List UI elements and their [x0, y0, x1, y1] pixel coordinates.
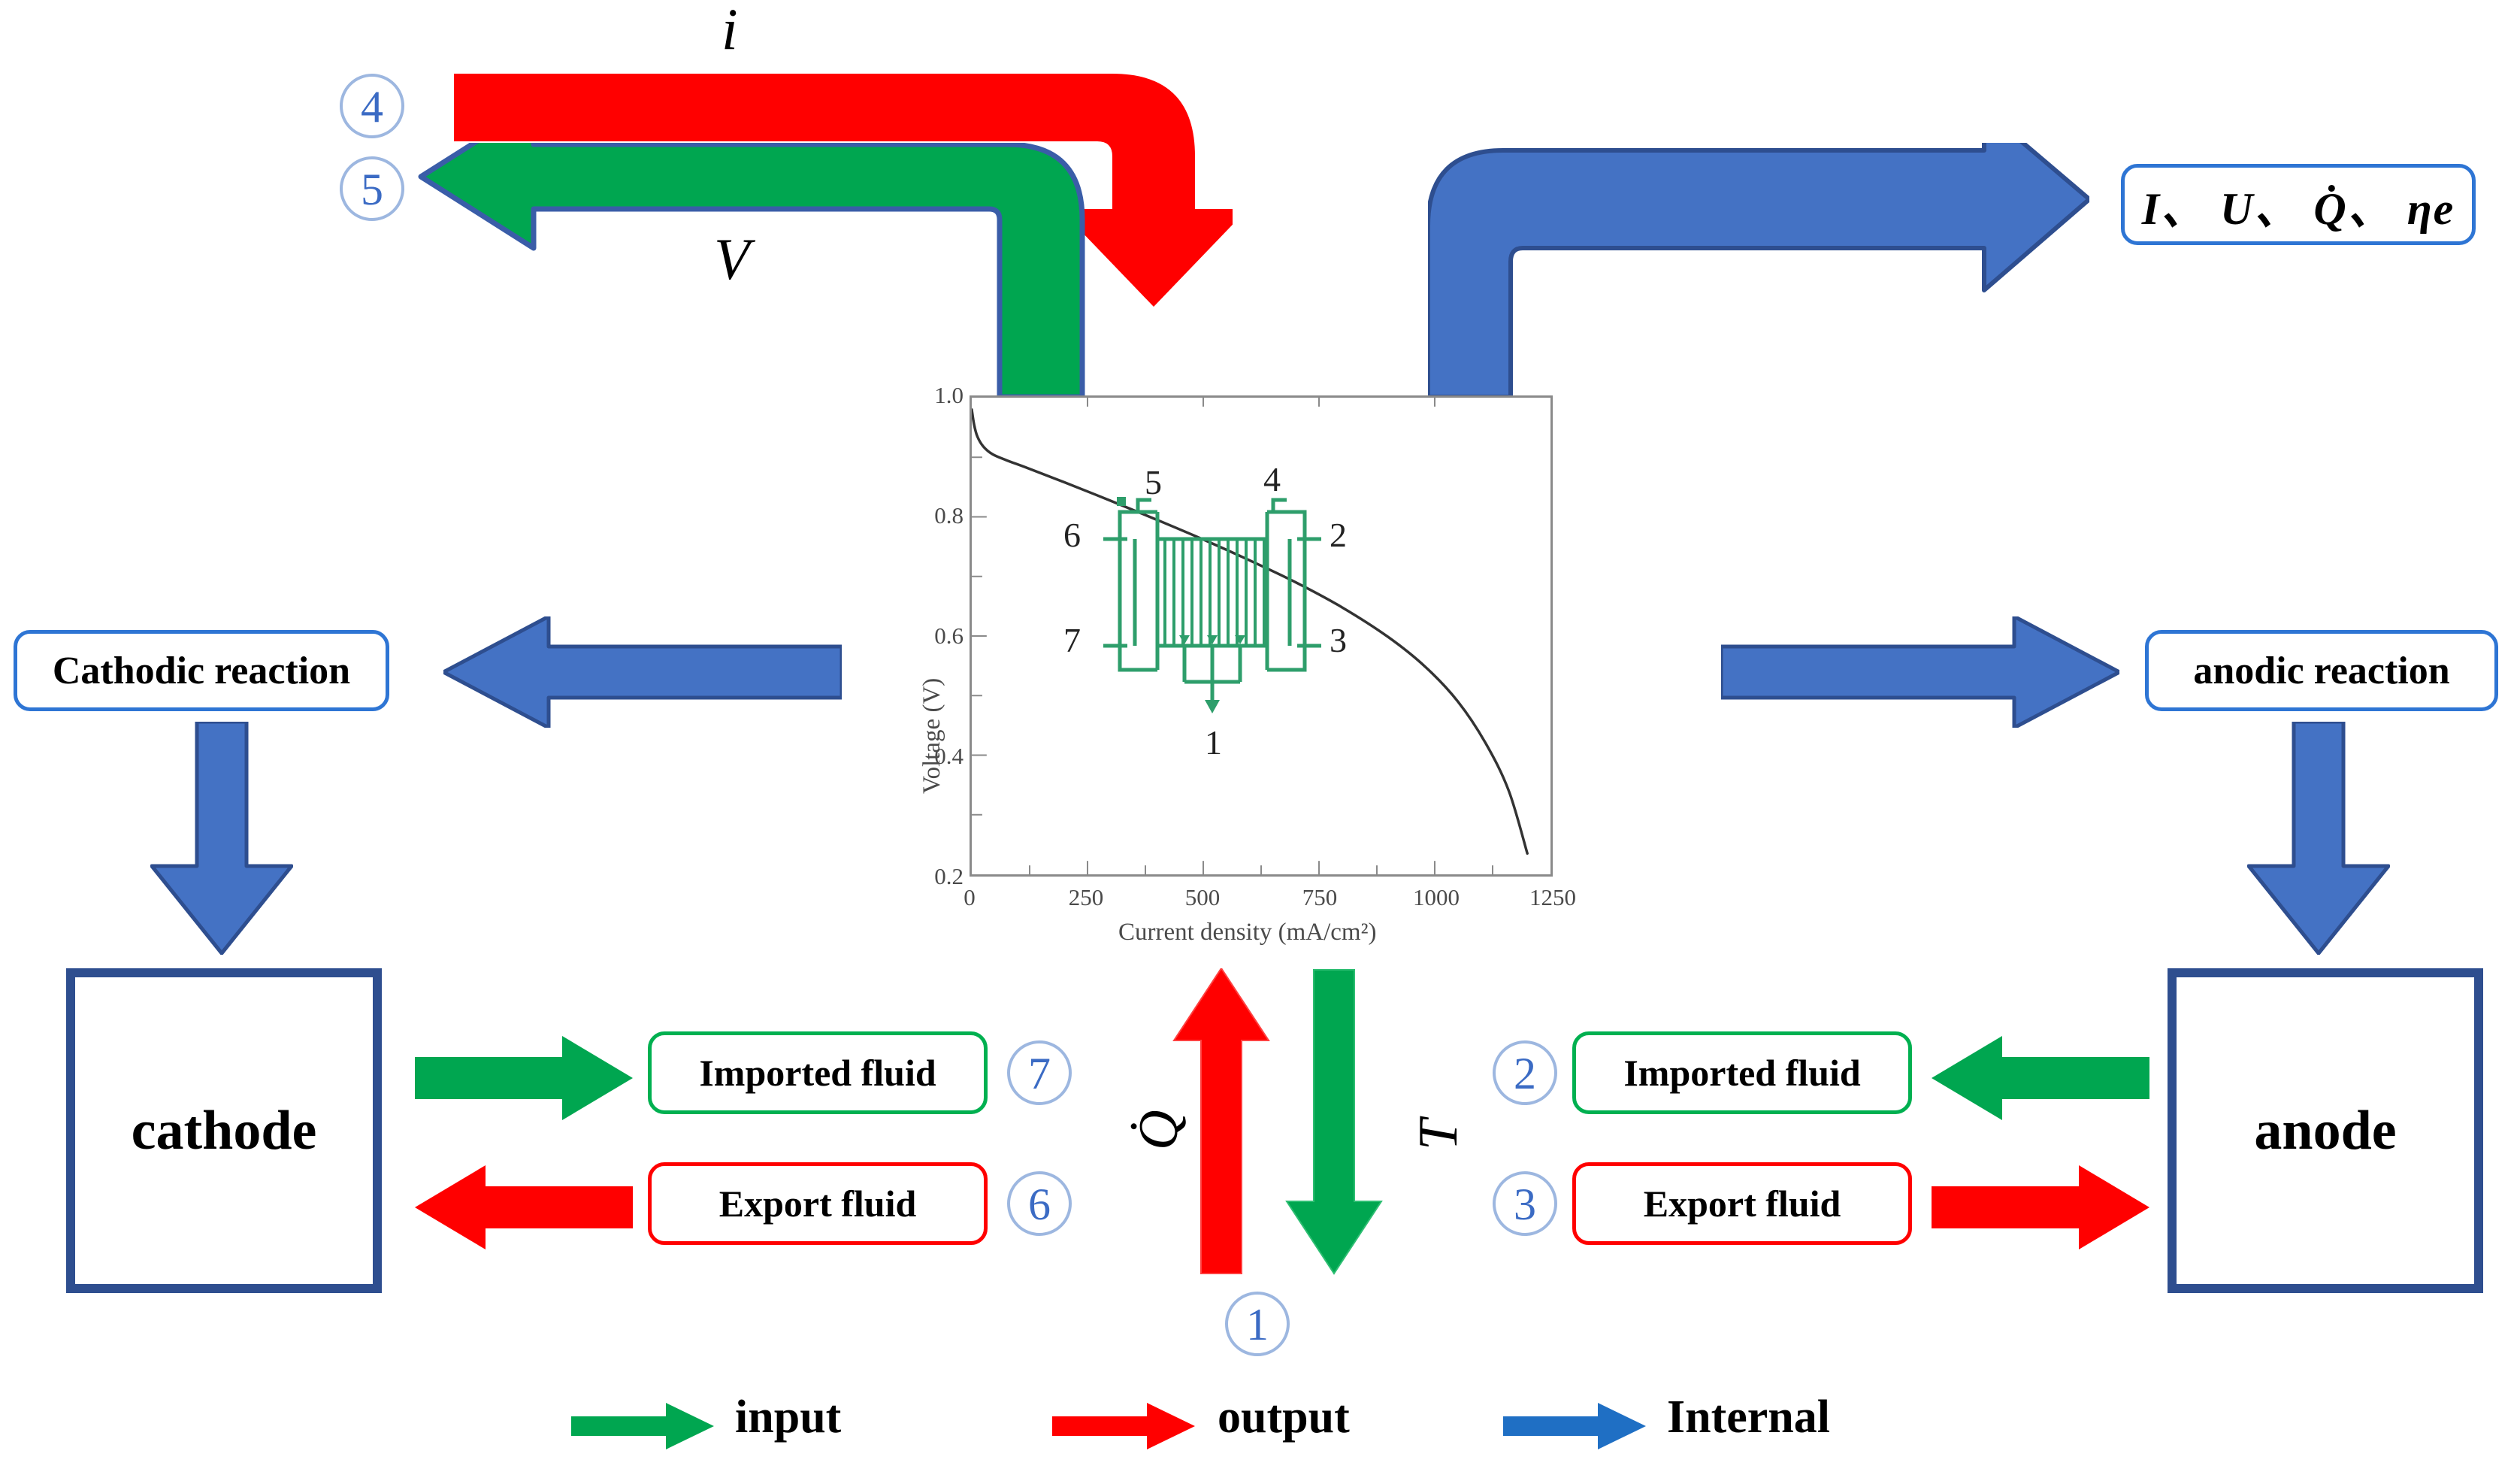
fuel-cell-system-diagram: i 4 5 V I、 U、 Q̇、 ηe Voltage (V) 1.0 0.8… — [0, 0, 2520, 1478]
cathode-box: cathode — [66, 968, 382, 1293]
circled-index-6: 6 — [1007, 1171, 1072, 1236]
cathode-imported-fluid-box: Imported fluid — [648, 1031, 988, 1114]
voltage-input-bent-arrow — [406, 143, 1157, 406]
circled-index-3: 3 — [1493, 1171, 1557, 1236]
stack-annotation-3: 3 — [1330, 620, 1347, 660]
circled-index-5: 5 — [340, 156, 404, 221]
legend-output-label: output — [1218, 1391, 1350, 1444]
cathode-imported-fluid-label: Imported fluid — [699, 1051, 936, 1095]
anode-label: anode — [2254, 1099, 2396, 1163]
stack-annotation-2: 2 — [1330, 515, 1347, 555]
voltage-symbol-label: V — [714, 226, 750, 293]
input-arrow-anode-imported — [1932, 1036, 2149, 1120]
cathode-export-fluid-label: Export fluid — [719, 1182, 917, 1225]
stack-annotation-6: 6 — [1063, 515, 1081, 555]
output-arrow-export-to-anode — [1932, 1165, 2149, 1249]
output-quantities-box: I、 U、 Q̇、 ηe — [2121, 164, 2476, 245]
heat-output-up-arrow — [1172, 968, 1270, 1275]
x-tick-250: 250 — [1069, 884, 1104, 911]
chart-y-axis-title: Voltage (V) — [918, 678, 946, 794]
circled-index-2: 2 — [1493, 1040, 1557, 1105]
legend-output-arrow-icon — [1052, 1400, 1195, 1452]
x-tick-1000: 1000 — [1413, 884, 1460, 911]
temperature-input-down-arrow — [1285, 968, 1383, 1275]
circled-index-4: 4 — [340, 74, 404, 138]
stack-annotation-7: 7 — [1063, 620, 1081, 660]
current-symbol-label: i — [722, 0, 738, 63]
y-tick-0.6: 0.6 — [896, 622, 964, 650]
cathodic-reaction-label: Cathodic reaction — [53, 649, 350, 693]
circled-index-1: 1 — [1225, 1292, 1290, 1356]
internal-arrow-anodic-to-anode — [2247, 722, 2390, 955]
internal-output-bent-arrow — [1428, 143, 2089, 406]
anodic-reaction-box: anodic reaction — [2145, 630, 2498, 711]
x-tick-0: 0 — [964, 884, 976, 911]
output-quantities-label: I、 U、 Q̇、 ηe — [2142, 172, 2455, 238]
legend-input-arrow-icon — [571, 1400, 714, 1452]
x-tick-750: 750 — [1302, 884, 1338, 911]
output-arrow-export-to-cathode — [415, 1165, 633, 1249]
stack-annotation-5: 5 — [1145, 462, 1162, 502]
y-tick-0.8: 0.8 — [896, 502, 964, 529]
stack-annotation-4: 4 — [1263, 459, 1281, 499]
x-tick-1250: 1250 — [1529, 884, 1576, 911]
chart-plot-area: 5 4 6 2 7 3 1 — [970, 395, 1553, 877]
y-tick-0.4: 0.4 — [896, 743, 964, 770]
anode-export-fluid-label: Export fluid — [1644, 1182, 1841, 1225]
x-tick-500: 500 — [1185, 884, 1221, 911]
anode-imported-fluid-label: Imported fluid — [1623, 1051, 1860, 1095]
chart-x-axis-title: Current density (mA/cm²) — [1118, 919, 1377, 946]
anode-box: anode — [2168, 968, 2483, 1293]
legend-internal-arrow-icon — [1503, 1400, 1646, 1452]
fuel-cell-stack-schematic — [1088, 495, 1336, 744]
y-tick-1.0: 1.0 — [896, 382, 964, 409]
internal-arrow-to-anodic — [1721, 616, 2119, 728]
cathode-label: cathode — [132, 1099, 317, 1163]
anode-imported-fluid-box: Imported fluid — [1572, 1031, 1912, 1114]
anodic-reaction-label: anodic reaction — [2193, 649, 2449, 693]
legend-internal-label: Internal — [1667, 1391, 1830, 1444]
polarization-curve-chart: Voltage (V) 1.0 0.8 0.6 0.4 0.2 — [893, 388, 1584, 944]
internal-arrow-to-cathodic — [443, 616, 842, 728]
internal-arrow-cathodic-to-cathode — [150, 722, 293, 955]
anode-export-fluid-box: Export fluid — [1572, 1162, 1912, 1245]
y-tick-0.2: 0.2 — [896, 863, 964, 890]
temperature-symbol-label: T — [1407, 1119, 1471, 1150]
circled-index-7: 7 — [1007, 1040, 1072, 1105]
cathode-export-fluid-box: Export fluid — [648, 1162, 988, 1245]
cathodic-reaction-box: Cathodic reaction — [14, 630, 389, 711]
legend-input-label: input — [735, 1391, 841, 1444]
stack-annotation-1: 1 — [1205, 722, 1222, 762]
input-arrow-cathode-imported — [415, 1036, 633, 1120]
